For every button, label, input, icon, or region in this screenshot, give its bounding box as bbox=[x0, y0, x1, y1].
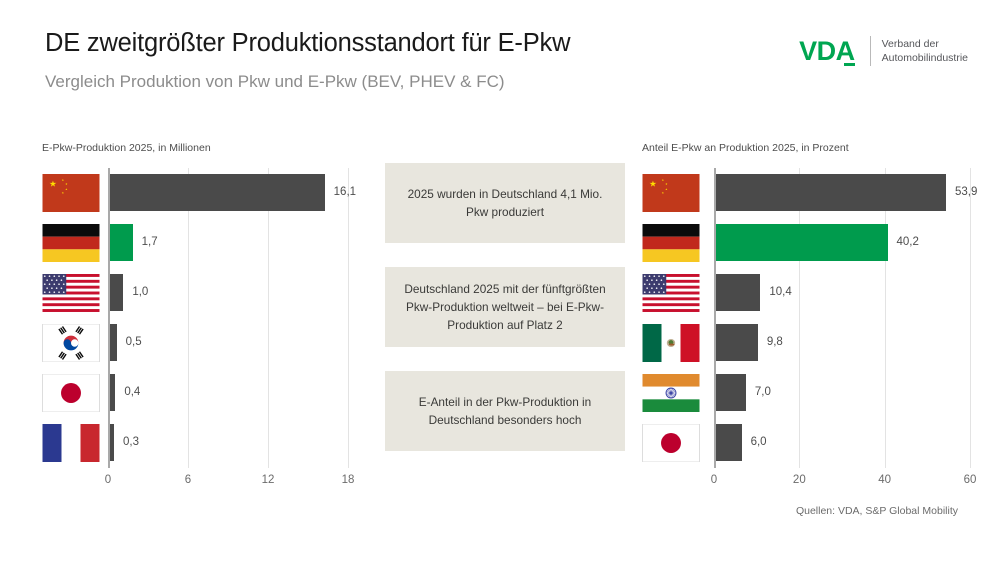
bar-value-label: 6,0 bbox=[751, 424, 767, 461]
flag-japan-icon bbox=[42, 374, 100, 412]
flag-usa-icon bbox=[642, 274, 700, 312]
infographic-page: DE zweitgrößter Produktionsstandort für … bbox=[0, 0, 1000, 562]
bar-row: 1,7 bbox=[42, 218, 372, 268]
callout-text: 2025 wurden in Deutschland 4,1 Mio. Pkw … bbox=[403, 185, 607, 222]
value-axis-line bbox=[108, 168, 110, 468]
page-title: DE zweitgrößter Produktionsstandort für … bbox=[45, 29, 570, 58]
callout-box: E-Anteil in der Pkw-Produktion in Deutsc… bbox=[385, 371, 625, 451]
page-subtitle: Vergleich Produktion von Pkw und E-Pkw (… bbox=[45, 72, 505, 92]
axis-tick-label: 12 bbox=[262, 474, 275, 486]
bar bbox=[110, 374, 115, 411]
chart-right-plot: 53,940,2 10,4 9,8 7,06, bbox=[642, 168, 982, 468]
chart-left-plot: 16,11,7 1,0 bbox=[42, 168, 372, 468]
bar-value-label: 1,7 bbox=[142, 224, 158, 261]
flag-china-icon bbox=[42, 174, 100, 212]
bar-row: 0,5 bbox=[42, 318, 372, 368]
axis-tick-label: 0 bbox=[105, 474, 111, 486]
bar bbox=[110, 174, 325, 211]
flag-south-korea-icon bbox=[42, 324, 100, 362]
bar bbox=[716, 224, 888, 261]
bar bbox=[110, 274, 123, 311]
bar-value-label: 16,1 bbox=[334, 174, 356, 211]
bar-value-label: 9,8 bbox=[767, 324, 783, 361]
vda-tagline-line2: Automobilindustrie bbox=[882, 51, 968, 65]
bar bbox=[110, 424, 114, 461]
callout-box: 2025 wurden in Deutschland 4,1 Mio. Pkw … bbox=[385, 163, 625, 243]
axis-tick-label: 6 bbox=[185, 474, 191, 486]
bar-value-label: 10,4 bbox=[769, 274, 791, 311]
chart-right-caption: Anteil E-Pkw an Produktion 2025, in Proz… bbox=[642, 142, 982, 154]
bar-row: 53,9 bbox=[642, 168, 982, 218]
bar-row: 16,1 bbox=[42, 168, 372, 218]
callout-text: E-Anteil in der Pkw-Produktion in Deutsc… bbox=[403, 393, 607, 430]
chart-epkw-production: E-Pkw-Produktion 2025, in Millionen 16,1… bbox=[42, 142, 372, 490]
callout-list: 2025 wurden in Deutschland 4,1 Mio. Pkw … bbox=[385, 163, 625, 475]
bar bbox=[110, 324, 117, 361]
chart-left-caption: E-Pkw-Produktion 2025, in Millionen bbox=[42, 142, 372, 154]
vda-wordmark-text: VDA bbox=[799, 36, 855, 66]
value-axis-line bbox=[714, 168, 716, 468]
bar-value-label: 7,0 bbox=[755, 374, 771, 411]
chart-right-rows: 53,940,2 10,4 9,8 7,06, bbox=[642, 168, 982, 468]
chart-left-axis-ticks: 061218 bbox=[42, 468, 372, 490]
flag-china-icon bbox=[642, 174, 700, 212]
flag-india-icon bbox=[642, 374, 700, 412]
chart-epkw-share: Anteil E-Pkw an Produktion 2025, in Proz… bbox=[642, 142, 982, 490]
bar bbox=[716, 324, 758, 361]
callout-text: Deutschland 2025 mit der fünftgrößten Pk… bbox=[403, 280, 607, 335]
bar-value-label: 40,2 bbox=[897, 224, 919, 261]
flag-germany-icon bbox=[642, 224, 700, 262]
bar-value-label: 1,0 bbox=[132, 274, 148, 311]
source-note: Quellen: VDA, S&P Global Mobility bbox=[796, 505, 958, 517]
bar-value-label: 0,4 bbox=[124, 374, 140, 411]
bar-row: 1,0 bbox=[42, 268, 372, 318]
bar bbox=[110, 224, 133, 261]
bar-value-label: 53,9 bbox=[955, 174, 977, 211]
flag-usa-icon bbox=[42, 274, 100, 312]
axis-tick-label: 40 bbox=[878, 474, 891, 486]
bar-row: 10,4 bbox=[642, 268, 982, 318]
bar-row: 0,3 bbox=[42, 418, 372, 468]
flag-france-icon bbox=[42, 424, 100, 462]
bar bbox=[716, 174, 946, 211]
bar-row: 40,2 bbox=[642, 218, 982, 268]
bar-row: 9,8 bbox=[642, 318, 982, 368]
bar-row: 0,4 bbox=[42, 368, 372, 418]
bar-value-label: 0,5 bbox=[126, 324, 142, 361]
vda-logo-accent-bar bbox=[844, 63, 855, 66]
bar bbox=[716, 374, 746, 411]
bar-value-label: 0,3 bbox=[123, 424, 139, 461]
chart-left-rows: 16,11,7 1,0 bbox=[42, 168, 372, 468]
bar-row: 6,0 bbox=[642, 418, 982, 468]
callout-box: Deutschland 2025 mit der fünftgrößten Pk… bbox=[385, 267, 625, 347]
logo-divider bbox=[870, 36, 871, 66]
axis-tick-label: 0 bbox=[711, 474, 717, 486]
flag-germany-icon bbox=[42, 224, 100, 262]
vda-tagline: Verband der Automobilindustrie bbox=[882, 37, 968, 65]
vda-wordmark: VDA bbox=[799, 38, 858, 65]
axis-tick-label: 60 bbox=[964, 474, 977, 486]
chart-right-axis-ticks: 0204060 bbox=[642, 468, 982, 490]
bar bbox=[716, 274, 760, 311]
axis-tick-label: 18 bbox=[342, 474, 355, 486]
vda-logo: VDA Verband der Automobilindustrie bbox=[799, 33, 968, 69]
bar-row: 7,0 bbox=[642, 368, 982, 418]
flag-japan-icon bbox=[642, 424, 700, 462]
axis-tick-label: 20 bbox=[793, 474, 806, 486]
flag-mexico-icon bbox=[642, 324, 700, 362]
vda-tagline-line1: Verband der bbox=[882, 37, 968, 51]
bar bbox=[716, 424, 742, 461]
